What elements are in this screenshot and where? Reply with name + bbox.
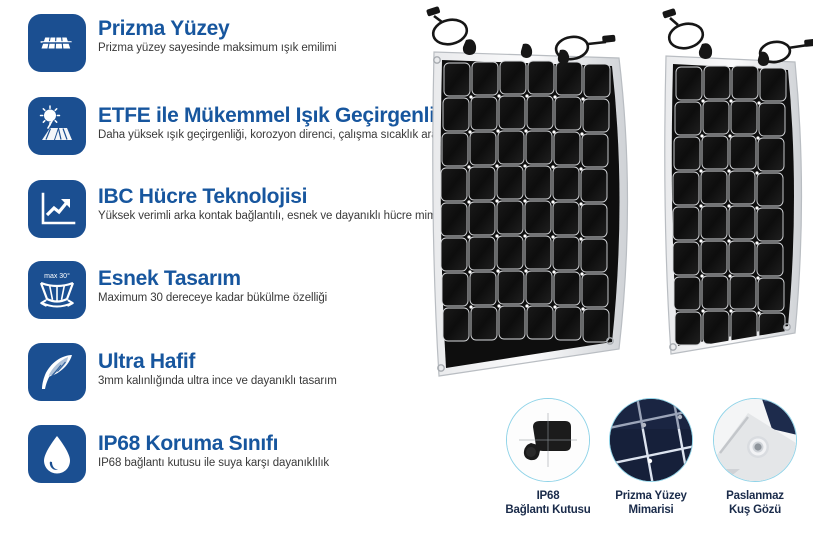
- feature-text-block: IP68 Koruma Sınıfı IP68 bağlantı kutusu …: [98, 425, 329, 470]
- junction-box-photo: [506, 398, 590, 482]
- flexible-solar-panel-large: [426, 6, 628, 376]
- detail-badge-row: IP68 Bağlantı Kutusu: [490, 398, 813, 535]
- solar-panel-product-images: [420, 0, 813, 400]
- prism-cell-surface-photo: [609, 398, 693, 482]
- sun-light-transmission-icon: [28, 97, 86, 155]
- feature-item-ibc: IBC Hücre Teknolojisi Yüksek verimli ark…: [28, 180, 457, 238]
- feature-title: ETFE ile Mükemmel Işık Geçirgenliği: [98, 104, 453, 127]
- feature-title: IBC Hücre Teknolojisi: [98, 185, 457, 208]
- flexible-bend-icon-label: max 30°: [44, 272, 70, 280]
- feature-subtitle: 3mm kalınlığında ultra ince ve dayanıklı…: [98, 374, 337, 388]
- feature-item-prizma-yuzey: Prizma Yüzey Prizma yüzey sayesinde maks…: [28, 14, 336, 72]
- feature-item-etfe: ETFE ile Mükemmel Işık Geçirgenliği Daha…: [28, 97, 453, 155]
- feather-icon: [28, 343, 86, 401]
- badge-caption: IP68 Bağlantı Kutusu: [500, 489, 596, 517]
- badge-caption: Paslanmaz Kuş Gözü: [707, 489, 803, 517]
- feature-text-block: Ultra Hafif 3mm kalınlığında ultra ince …: [98, 343, 337, 388]
- feature-text-block: ETFE ile Mükemmel Işık Geçirgenliği Daha…: [98, 97, 453, 142]
- water-drop-icon: [28, 425, 86, 483]
- badge-caption-line2: Bağlantı Kutusu: [500, 503, 596, 517]
- feature-subtitle: Yüksek verimli arka kontak bağlantılı, e…: [98, 209, 457, 223]
- feature-item-ultra-hafif: Ultra Hafif 3mm kalınlığında ultra ince …: [28, 343, 337, 401]
- product-feature-infographic: Prizma Yüzey Prizma yüzey sayesinde maks…: [0, 0, 813, 535]
- feature-text-block: IBC Hücre Teknolojisi Yüksek verimli ark…: [98, 180, 457, 223]
- stainless-grommet-photo: [713, 398, 797, 482]
- feature-item-ip68: IP68 Koruma Sınıfı IP68 bağlantı kutusu …: [28, 425, 329, 483]
- flexible-bend-icon: max 30°: [28, 261, 86, 319]
- feature-subtitle: Maximum 30 dereceye kadar bükülme özelli…: [98, 291, 327, 305]
- feature-subtitle: IP68 bağlantı kutusu ile suya karşı daya…: [98, 456, 329, 470]
- feature-text-block: Prizma Yüzey Prizma yüzey sayesinde maks…: [98, 14, 336, 55]
- feature-title: Prizma Yüzey: [98, 17, 336, 40]
- badge-caption-line2: Kuş Gözü: [707, 503, 803, 517]
- badge-ip68-junction-box: IP68 Bağlantı Kutusu: [500, 398, 596, 517]
- feature-subtitle: Prizma yüzey sayesinde maksimum ışık emi…: [98, 41, 336, 55]
- feature-item-esnek-tasarim: max 30°: [28, 261, 327, 319]
- badge-caption-line2: Mimarisi: [603, 503, 699, 517]
- badge-caption-line1: Prizma Yüzey: [603, 489, 699, 503]
- badge-paslanmaz-kus-gozu: Paslanmaz Kuş Gözü: [707, 398, 803, 517]
- badge-prizma-yuzey: Prizma Yüzey Mimarisi: [603, 398, 699, 517]
- prism-surface-icon: [28, 14, 86, 72]
- growth-chart-icon: [28, 180, 86, 238]
- feature-title: Esnek Tasarım: [98, 267, 327, 290]
- feature-subtitle: Daha yüksek ışık geçirgenliği, korozyon …: [98, 128, 453, 142]
- badge-caption: Prizma Yüzey Mimarisi: [603, 489, 699, 517]
- feature-list: Prizma Yüzey Prizma yüzey sayesinde maks…: [0, 0, 470, 535]
- badge-caption-line1: IP68: [500, 489, 596, 503]
- badge-caption-line1: Paslanmaz: [707, 489, 803, 503]
- feature-text-block: Esnek Tasarım Maximum 30 dereceye kadar …: [98, 261, 327, 305]
- flexible-solar-panel-small: [662, 8, 813, 354]
- feature-title: Ultra Hafif: [98, 350, 337, 373]
- feature-title: IP68 Koruma Sınıfı: [98, 432, 329, 455]
- solar-panels-svg: [420, 0, 813, 400]
